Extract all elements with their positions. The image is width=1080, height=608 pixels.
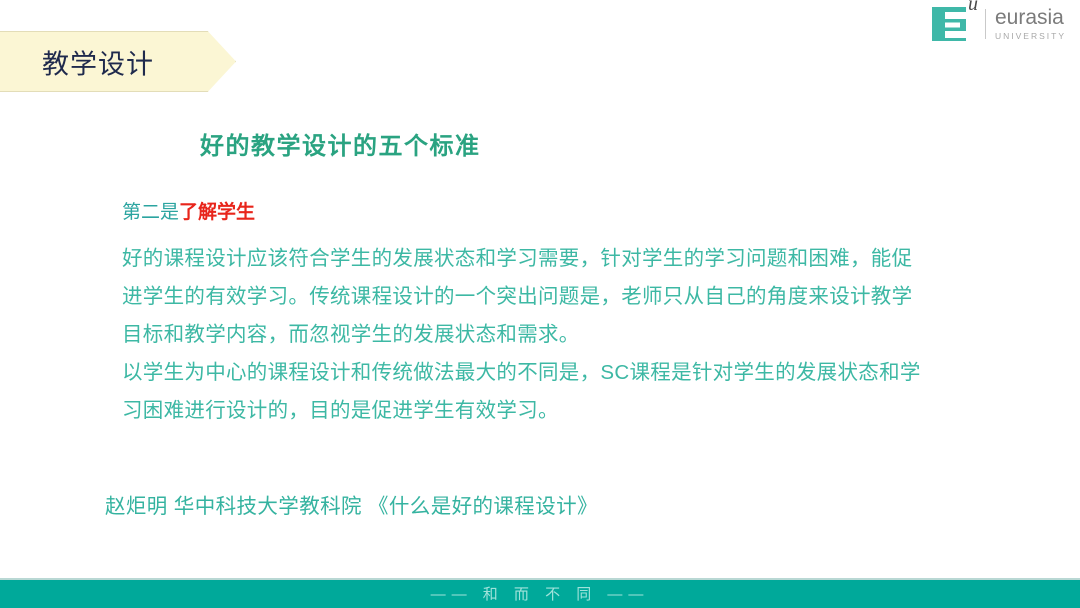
- subheading-emphasis: 了解学生: [179, 202, 255, 223]
- brand-logo: u eurasia UNIVERSITY: [932, 4, 1066, 44]
- subheading: 第二是了解学生: [0, 200, 1080, 226]
- eurasia-e-mark-icon: [932, 7, 966, 41]
- footer-bar: —— 和 而 不 同 ——: [0, 578, 1080, 608]
- subheading-lead: 第二是: [122, 202, 179, 223]
- paragraph-line: 习困难进行设计的，目的是促进学生有效学习。: [122, 392, 1020, 430]
- banner-label: 教学设计: [42, 42, 154, 81]
- page-title: 好的教学设计的五个标准: [0, 130, 1080, 164]
- logo-wordmark: eurasia UNIVERSITY: [995, 7, 1066, 41]
- body-paragraph-one: 好的课程设计应该符合学生的发展状态和学习需要，针对学生的学习问题和困难，能促 进…: [0, 240, 1080, 354]
- logo-subtitle: UNIVERSITY: [995, 32, 1066, 41]
- paragraph-line: 好的课程设计应该符合学生的发展状态和学习需要，针对学生的学习问题和困难，能促: [122, 240, 1020, 278]
- logo-name: eurasia: [995, 7, 1066, 29]
- paragraph-line: 进学生的有效学习。传统课程设计的一个突出问题是，老师只从自己的角度来设计教学: [122, 278, 1020, 316]
- body-paragraph-two: 以学生为中心的课程设计和传统做法最大的不同是，SC课程是针对学生的发展状态和学 …: [0, 354, 1080, 430]
- slide-canvas: u eurasia UNIVERSITY 教学设计 好的教学设计的五个标准 第二…: [0, 0, 1080, 608]
- paragraph-line: 目标和教学内容，而忽视学生的发展状态和需求。: [122, 316, 1020, 354]
- slide-content: 好的教学设计的五个标准 第二是了解学生 好的课程设计应该符合学生的发展状态和学习…: [0, 130, 1080, 522]
- eurasia-u-letter: u: [968, 0, 978, 14]
- logo-divider: [985, 9, 986, 39]
- paragraph-line: 以学生为中心的课程设计和传统做法最大的不同是，SC课程是针对学生的发展状态和学: [122, 354, 1020, 392]
- section-banner: 教学设计: [0, 31, 236, 92]
- footer-slogan: —— 和 而 不 同 ——: [431, 587, 650, 602]
- source-attribution: 赵炬明 华中科技大学教科院 《什么是好的课程设计》: [0, 492, 1080, 522]
